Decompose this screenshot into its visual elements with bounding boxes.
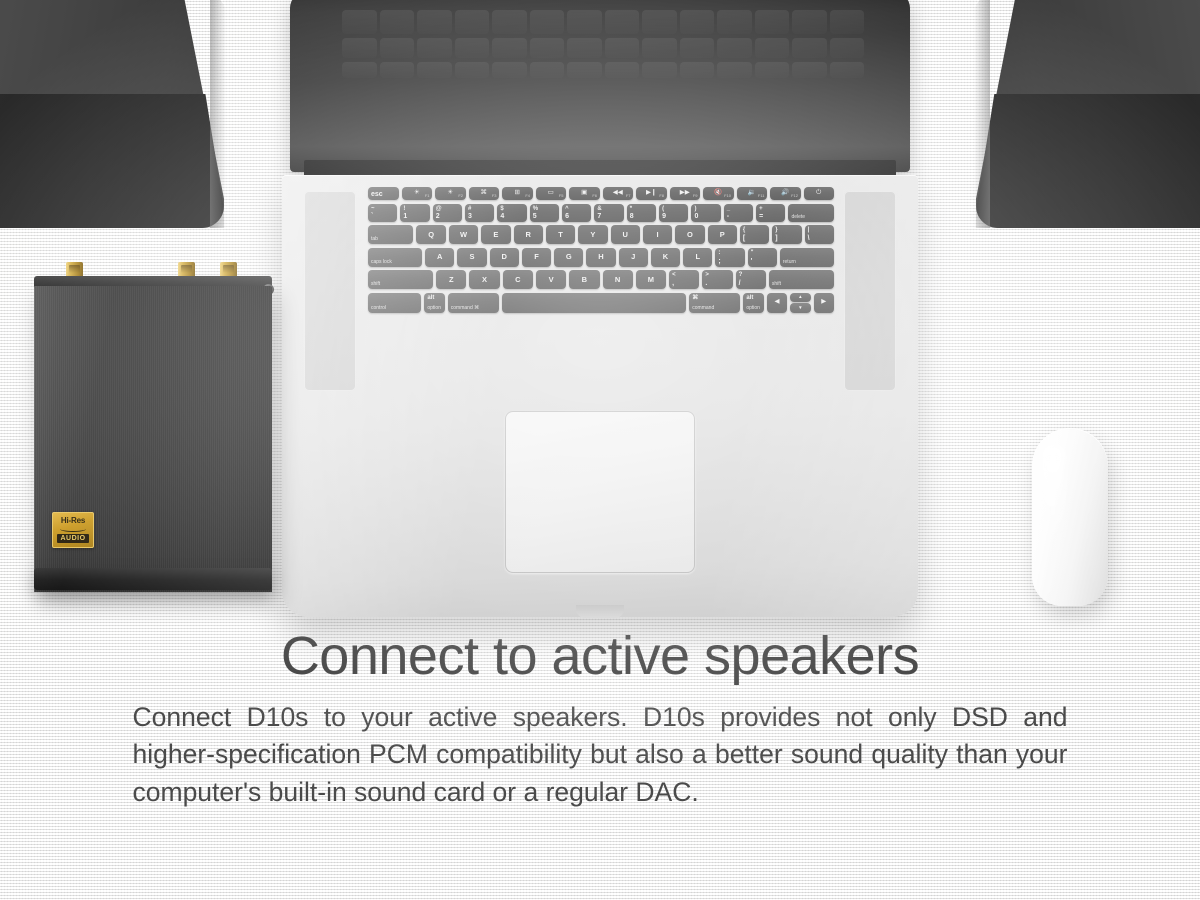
- key-r[interactable]: R: [514, 225, 543, 244]
- key-label: O: [687, 231, 693, 239]
- key-base-symbol: ,: [672, 280, 674, 287]
- key-label: T: [558, 231, 563, 239]
- key-4[interactable]: $4: [497, 204, 526, 222]
- key-l[interactable]: L: [683, 248, 712, 267]
- key-name-label: delete: [791, 215, 805, 220]
- key-icon: ☀: [447, 190, 453, 197]
- mouse-highlight: [1041, 444, 1065, 540]
- key-[interactable]: ◀◀F7: [603, 187, 634, 200]
- key-[interactable]: ▶❙F8: [636, 187, 667, 200]
- hi-res-badge-top-label: Hi-Res: [61, 517, 85, 525]
- key-[interactable]: ▶▶F9: [670, 187, 701, 200]
- key-fn-label: F1: [425, 194, 430, 198]
- key-base-symbol: 0: [694, 213, 698, 220]
- speaker-left-grille: [0, 94, 224, 228]
- keyboard-number-row[interactable]: ~`!1@2#3$4%5^6&7*8(9)0_-+=delete: [368, 204, 834, 222]
- key-fn-label: F12: [791, 194, 798, 198]
- key-[interactable]: |\: [805, 225, 834, 244]
- key-e[interactable]: E: [481, 225, 510, 244]
- key-label: E: [493, 231, 498, 239]
- key-2[interactable]: @2: [433, 204, 462, 222]
- key-1[interactable]: !1: [400, 204, 429, 222]
- key-k[interactable]: K: [651, 248, 680, 267]
- key-[interactable]: 🔉F11: [737, 187, 768, 200]
- key-base-symbol: ]: [775, 235, 777, 242]
- keyboard-function-row[interactable]: esc☀F1☀F2⌘F3⊞F4▭F5▣F6◀◀F7▶❙F8▶▶F9🔇F10🔉F1…: [368, 187, 834, 200]
- key-shift-symbol: {: [743, 227, 745, 233]
- key-base-symbol: esc: [371, 191, 383, 198]
- key-icon: ▶❙: [646, 190, 656, 197]
- laptop-speaker-grille-right: [844, 191, 896, 391]
- key-m[interactable]: M: [636, 270, 666, 289]
- key-label: A: [437, 253, 442, 261]
- product-marketing-image: esc☀F1☀F2⌘F3⊞F4▭F5▣F6◀◀F7▶❙F8▶▶F9🔇F10🔉F1…: [0, 0, 1200, 900]
- magic-mouse[interactable]: [1032, 428, 1108, 606]
- laptop-trackpad[interactable]: [505, 411, 695, 573]
- key-shift-symbol: $: [500, 206, 503, 212]
- key-icon: 🔇: [714, 190, 722, 197]
- key-icon: ◀: [774, 299, 779, 306]
- key-label: G: [566, 253, 572, 261]
- key-p[interactable]: P: [708, 225, 737, 244]
- key-base-symbol: 8: [630, 213, 634, 220]
- key-i[interactable]: I: [643, 225, 672, 244]
- laptop-base: esc☀F1☀F2⌘F3⊞F4▭F5▣F6◀◀F7▶❙F8▶▶F9🔇F10🔉F1…: [282, 175, 918, 617]
- key-base-symbol: ': [751, 258, 753, 265]
- key-tab[interactable]: tab: [368, 225, 413, 244]
- keyboard-home-row[interactable]: caps lockASDFGHJKL:;"'return: [368, 248, 834, 267]
- key-6[interactable]: ^6: [562, 204, 591, 222]
- key-command[interactable]: command ⌘: [448, 293, 499, 313]
- key-[interactable]: >.: [702, 270, 732, 289]
- key-shift-symbol: +: [759, 206, 763, 212]
- key-label: S: [469, 253, 474, 261]
- key-base-symbol: ;: [718, 258, 720, 265]
- key-label: Y: [590, 231, 595, 239]
- key-fn-label: F5: [559, 194, 564, 198]
- key-[interactable]: 🔊F12: [770, 187, 801, 200]
- keyboard-bottom-row[interactable]: controlaltoptioncommand ⌘⌘commandaltopti…: [368, 293, 834, 313]
- key-shift-symbol: %: [533, 206, 538, 212]
- key-label: P: [720, 231, 725, 239]
- speaker-right-edge: [974, 0, 990, 228]
- key-caps-lock[interactable]: caps lock: [368, 248, 422, 267]
- laptop-keyboard[interactable]: esc☀F1☀F2⌘F3⊞F4▭F5▣F6◀◀F7▶❙F8▶▶F9🔇F10🔉F1…: [368, 187, 834, 316]
- key-[interactable]: ⌘F3: [469, 187, 500, 200]
- key-shift-symbol: ^: [565, 206, 569, 212]
- key-shift-symbol: #: [468, 206, 471, 212]
- speaker-right-grille: [976, 94, 1200, 228]
- key-icon: ▣: [581, 190, 587, 197]
- key-[interactable]: {[: [740, 225, 769, 244]
- key-u[interactable]: U: [611, 225, 640, 244]
- key-shift-symbol: |: [808, 227, 810, 233]
- key-d[interactable]: D: [490, 248, 519, 267]
- key-label: U: [623, 231, 628, 239]
- key-control[interactable]: control: [368, 293, 421, 313]
- active-speaker-left: [0, 0, 224, 228]
- key-shift-symbol: alt: [746, 295, 753, 301]
- key-[interactable]: ▶: [814, 293, 834, 313]
- key-label: N: [615, 276, 620, 284]
- key-blank[interactable]: [502, 293, 686, 313]
- laptop-speaker-grille-left: [304, 191, 356, 391]
- key-icon: ◀◀: [613, 190, 623, 197]
- key-name-label: control: [371, 306, 386, 311]
- key-[interactable]: ▭F5: [536, 187, 567, 200]
- key-shift-symbol: ": [751, 250, 754, 256]
- key-icon: 🔊: [781, 190, 789, 197]
- key-shift-symbol: ~: [371, 206, 375, 212]
- key-g[interactable]: G: [554, 248, 583, 267]
- key-base-symbol: 5: [533, 213, 537, 220]
- key-7[interactable]: &7: [594, 204, 623, 222]
- key-icon: ☀: [414, 190, 420, 197]
- key-label: L: [695, 253, 700, 261]
- key-[interactable]: ▣F6: [569, 187, 600, 200]
- key-v[interactable]: V: [536, 270, 566, 289]
- key-label: V: [549, 276, 554, 284]
- key-label: M: [648, 276, 654, 284]
- key-c[interactable]: C: [503, 270, 533, 289]
- key-label: B: [582, 276, 587, 284]
- key-fn-label: F8: [659, 194, 664, 198]
- key-t[interactable]: T: [546, 225, 575, 244]
- key-delete[interactable]: delete: [788, 204, 833, 222]
- key-q[interactable]: Q: [416, 225, 445, 244]
- keyboard-qwerty-row[interactable]: tabQWERTYUIOP{[}]|\: [368, 225, 834, 244]
- key-fn-label: F11: [758, 194, 765, 198]
- key-shift-symbol: !: [403, 206, 405, 212]
- key-base-symbol: 7: [597, 213, 601, 220]
- key-[interactable]: ~`: [368, 204, 397, 222]
- key-label: I: [657, 231, 659, 239]
- key-j[interactable]: J: [619, 248, 648, 267]
- dac-chassis: Hi-Res AUDIO: [34, 286, 272, 592]
- key-shift-symbol: *: [630, 206, 632, 212]
- key-8[interactable]: *8: [627, 204, 656, 222]
- key-base-symbol: =: [759, 213, 763, 220]
- key-icon: ▶▶: [680, 190, 690, 197]
- key-label: X: [482, 276, 487, 284]
- key-fn-label: F7: [626, 194, 631, 198]
- key-label: J: [631, 253, 635, 261]
- key-shift-symbol: _: [727, 206, 730, 212]
- key-fn-label: F3: [492, 194, 497, 198]
- key-arrow-cluster[interactable]: ▲▼: [790, 293, 810, 313]
- key-[interactable]: ☀F2: [435, 187, 466, 200]
- dac-front-base: [34, 568, 272, 590]
- key-arrow-down[interactable]: ▼: [790, 303, 810, 312]
- key-x[interactable]: X: [469, 270, 499, 289]
- key-name-label: option: [427, 306, 441, 311]
- key-fn-label: F6: [592, 194, 597, 198]
- key-shift-symbol: &: [597, 206, 601, 212]
- laptop-screen: [290, 0, 910, 172]
- key-shift-symbol: alt: [427, 295, 434, 301]
- key-label: K: [663, 253, 668, 261]
- key-name-label: shift: [772, 282, 781, 287]
- key-label: D: [502, 253, 507, 261]
- key-[interactable]: <,: [669, 270, 699, 289]
- key-label: W: [460, 231, 467, 239]
- key-name-label: shift: [371, 282, 380, 287]
- key-a[interactable]: A: [425, 248, 454, 267]
- hi-res-audio-badge: Hi-Res AUDIO: [52, 512, 94, 548]
- key-shift-symbol: (: [662, 206, 664, 212]
- key-base-symbol: -: [727, 213, 729, 220]
- key-base-symbol: .: [705, 280, 707, 287]
- key-[interactable]: :;: [715, 248, 744, 267]
- key-fn-label: F4: [525, 194, 530, 198]
- key-base-symbol: 1: [403, 213, 407, 220]
- key-shift-symbol: }: [775, 227, 777, 233]
- key-shift-symbol: >: [705, 272, 709, 278]
- key-f[interactable]: F: [522, 248, 551, 267]
- key-w[interactable]: W: [449, 225, 478, 244]
- key-[interactable]: ⏻: [804, 187, 835, 200]
- key-name-label: return: [783, 260, 796, 265]
- key-shift-symbol: ): [694, 206, 696, 212]
- key-name-label: tab: [371, 237, 378, 242]
- speaker-left-edge: [210, 0, 226, 228]
- key-label: F: [534, 253, 539, 261]
- key-9[interactable]: (9: [659, 204, 688, 222]
- key-fn-label: F9: [693, 194, 698, 198]
- screen-glare: [290, 0, 910, 172]
- key-icon: ▭: [548, 190, 554, 197]
- laptop-lid-notch: [576, 605, 624, 618]
- key-label: H: [598, 253, 603, 261]
- key-fn-label: F2: [458, 194, 463, 198]
- key-icon: ⌘: [481, 190, 488, 197]
- key-name-label: command: [692, 306, 714, 311]
- key-option[interactable]: altoption: [743, 293, 763, 313]
- hi-res-badge-arc: [60, 526, 86, 532]
- key-y[interactable]: Y: [578, 225, 607, 244]
- key-[interactable]: _-: [724, 204, 753, 222]
- active-speaker-right: [976, 0, 1200, 228]
- key-command[interactable]: ⌘command: [689, 293, 740, 313]
- key-s[interactable]: S: [457, 248, 486, 267]
- key-shift-symbol: ?: [739, 272, 743, 278]
- key-n[interactable]: N: [603, 270, 633, 289]
- key-[interactable]: }]: [772, 225, 801, 244]
- key-b[interactable]: B: [569, 270, 599, 289]
- key-h[interactable]: H: [586, 248, 615, 267]
- key-shift[interactable]: shift: [769, 270, 834, 289]
- keyboard-shift-row[interactable]: shiftZXCVBNM<,>.?/shift: [368, 270, 834, 289]
- key-base-symbol: [: [743, 235, 745, 242]
- page-title: Connect to active speakers: [0, 628, 1200, 685]
- hi-res-badge-bottom-label: AUDIO: [57, 534, 89, 543]
- key-label: Q: [428, 231, 434, 239]
- key-esc[interactable]: esc: [368, 187, 399, 200]
- key-name-label: option: [746, 306, 760, 311]
- key-shift-symbol: :: [718, 250, 720, 256]
- key-[interactable]: ☀F1: [402, 187, 433, 200]
- key-base-symbol: \: [808, 235, 810, 242]
- d10s-dac-device: Hi-Res AUDIO: [28, 262, 276, 610]
- key-z[interactable]: Z: [436, 270, 466, 289]
- body-description: Connect D10s to your active speakers. D1…: [133, 699, 1068, 812]
- marketing-copy: Connect to active speakers Connect D10s …: [0, 628, 1200, 812]
- key-[interactable]: ⊞F4: [502, 187, 533, 200]
- key-base-symbol: 9: [662, 213, 666, 220]
- key-base-symbol: `: [371, 213, 373, 220]
- key-name-label: command ⌘: [451, 306, 479, 311]
- key-[interactable]: ?/: [736, 270, 766, 289]
- key-icon: 🔉: [748, 190, 756, 197]
- key-label: R: [525, 231, 530, 239]
- key-5[interactable]: %5: [530, 204, 559, 222]
- key-shift-symbol: ⌘: [692, 295, 698, 301]
- key-icon: ⊞: [515, 190, 520, 197]
- laptop: esc☀F1☀F2⌘F3⊞F4▭F5▣F6◀◀F7▶❙F8▶▶F9🔇F10🔉F1…: [282, 0, 918, 622]
- key-name-label: caps lock: [371, 260, 392, 265]
- key-0[interactable]: )0: [691, 204, 720, 222]
- key-[interactable]: ◀: [767, 293, 787, 313]
- key-return[interactable]: return: [780, 248, 834, 267]
- key-[interactable]: "': [748, 248, 777, 267]
- key-base-symbol: 3: [468, 213, 472, 220]
- key-base-symbol: /: [739, 280, 741, 287]
- key-[interactable]: 🔇F10: [703, 187, 734, 200]
- key-o[interactable]: O: [675, 225, 704, 244]
- key-base-symbol: 6: [565, 213, 569, 220]
- key-label: C: [515, 276, 520, 284]
- key-fn-label: F10: [724, 194, 731, 198]
- key-arrow-up[interactable]: ▲: [790, 293, 810, 302]
- key-label: Z: [449, 276, 454, 284]
- key-base-symbol: 4: [500, 213, 504, 220]
- key-shift-symbol: <: [672, 272, 676, 278]
- key-shift[interactable]: shift: [368, 270, 433, 289]
- key-[interactable]: +=: [756, 204, 785, 222]
- key-3[interactable]: #3: [465, 204, 494, 222]
- key-icon: ⏻: [816, 190, 821, 197]
- key-icon: ▶: [821, 299, 826, 306]
- key-shift-symbol: @: [436, 206, 442, 212]
- key-option[interactable]: altoption: [424, 293, 444, 313]
- key-base-symbol: 2: [436, 213, 440, 220]
